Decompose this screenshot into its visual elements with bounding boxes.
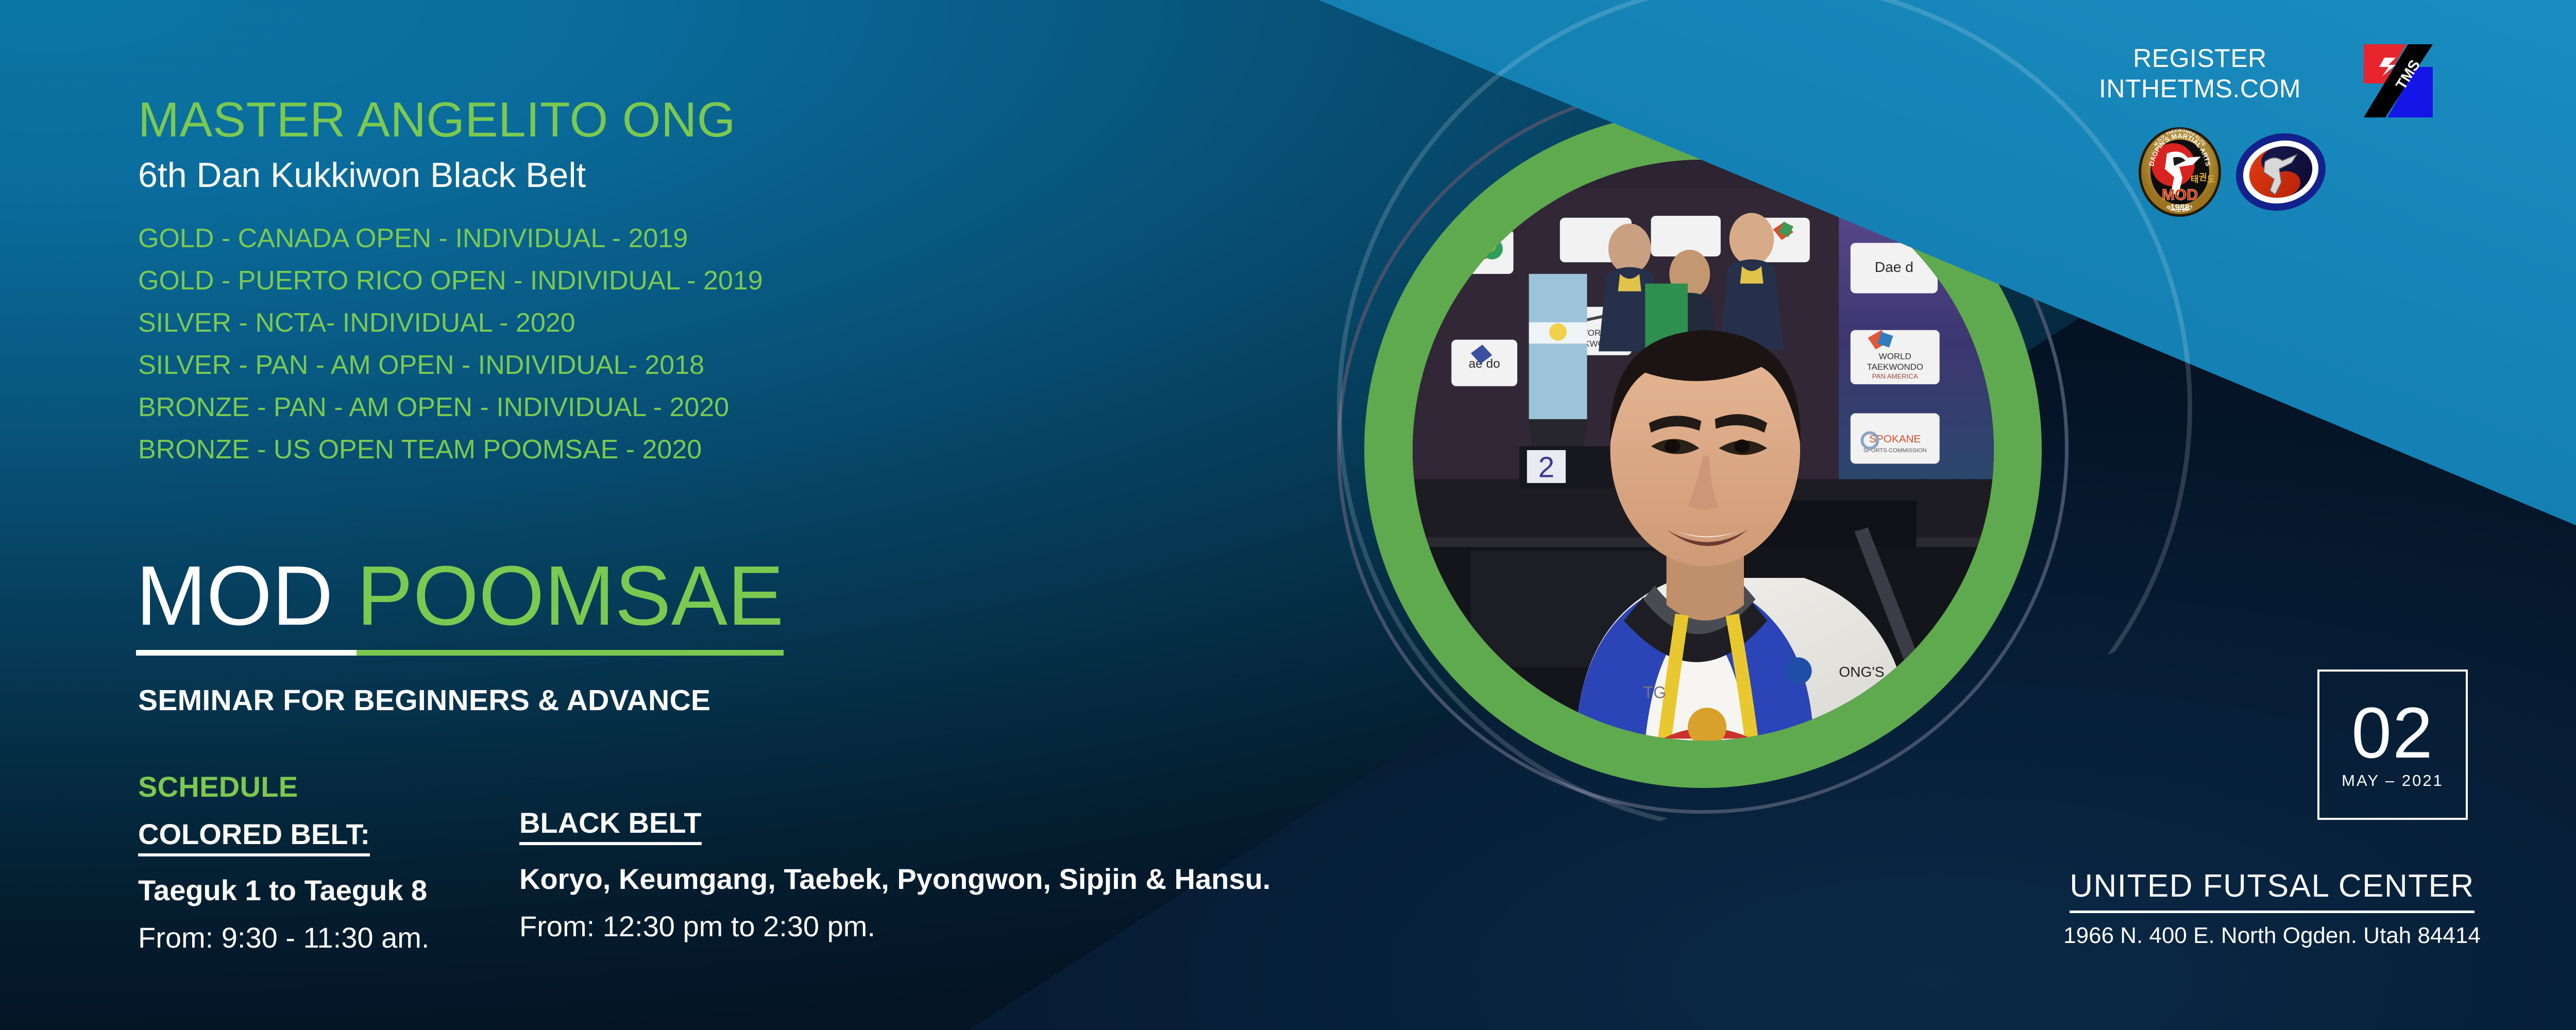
award-item: SILVER - PAN - AM OPEN - INDIVIDUAL- 201… — [138, 352, 911, 379]
svg-text:TAEKWONDO: TAEKWONDO — [1867, 362, 1923, 372]
event-title-mod: MOD — [136, 548, 357, 656]
venue-name: UNITED FUTSAL CENTER — [2070, 870, 2475, 913]
svg-text:WORLD: WORLD — [1879, 351, 1911, 361]
svg-text:2: 2 — [1538, 451, 1554, 484]
ong-taekwondo-logo-icon — [2234, 133, 2328, 211]
award-item: GOLD - PUERTO RICO OPEN - INDIVIDUAL - 2… — [138, 267, 911, 294]
black-belt-heading: BLACK BELT — [519, 809, 702, 845]
event-date-month-year: MAY – 2021 — [2342, 772, 2444, 788]
schedule-colored-belt: COLORED BELT: Taeguk 1 to Taeguk 8 From:… — [138, 820, 429, 952]
colored-belt-forms: Taeguk 1 to Taeguk 8 — [138, 876, 429, 905]
mod-martial-arts-logo-icon: 태권도 M.O.D. TAEKWONDO ELITE DAGPIN'S MART… — [2137, 127, 2223, 217]
award-item: SILVER - NCTA- INDIVIDUAL - 2020 — [138, 310, 911, 336]
left-content-column: MASTER ANGELITO ONG 6th Dan Kukkiwon Bla… — [0, 0, 1236, 1030]
event-date-day: 02 — [2351, 701, 2434, 764]
register-callout[interactable]: REGISTER INTHETMS.COM — [2092, 43, 2308, 104]
colored-belt-heading: COLORED BELT: — [138, 820, 370, 856]
black-belt-time: From: 12:30 pm to 2:30 pm. — [519, 912, 1270, 941]
svg-text:도: 도 — [2207, 175, 2215, 184]
instructor-photo: WORLDTAEKWONDO WORLDTAEKWONDO PAN AMERIC… — [1413, 160, 1994, 741]
award-item: GOLD - CANADA OPEN - INDIVIDUAL - 2019 — [138, 225, 911, 252]
instructor-name: MASTER ANGELITO ONG — [138, 95, 736, 145]
register-line-1: REGISTER — [2092, 43, 2308, 74]
schedule-heading: SCHEDULE — [138, 772, 298, 801]
svg-text:ONG'S: ONG'S — [1839, 663, 1884, 680]
event-title-poomsae: POOMSAE — [357, 548, 784, 656]
seminar-poster: WORLDTAEKWONDO WORLDTAEKWONDO PAN AMERIC… — [0, 0, 2576, 1030]
award-item: BRONZE - PAN - AM OPEN - INDIVIDUAL - 20… — [138, 394, 911, 421]
svg-text:PAN AMERICA: PAN AMERICA — [1872, 372, 1918, 380]
register-website[interactable]: INTHETMS.COM — [2092, 74, 2308, 104]
event-subtitle: SEMINAR FOR BEGINNERS & ADVANCE — [138, 686, 710, 715]
instructor-rank: 6th Dan Kukkiwon Black Belt — [138, 158, 586, 193]
event-date-box: 02 MAY – 2021 — [2317, 669, 2468, 820]
colored-belt-time: From: 9:30 - 11:30 am. — [138, 923, 429, 952]
svg-text:태: 태 — [2191, 175, 2199, 184]
awards-list: GOLD - CANADA OPEN - INDIVIDUAL - 2019 G… — [138, 225, 911, 478]
mod-logo-name: MOD — [2162, 186, 2198, 203]
schedule-black-belt: BLACK BELT Koryo, Keumgang, Taebek, Pyon… — [519, 809, 1270, 941]
svg-text:Dae d: Dae d — [1875, 259, 1913, 275]
svg-text:TG: TG — [1643, 683, 1666, 701]
venue-address: 1966 N. 400 E. North Ogden. Utah 84414 — [1989, 924, 2555, 947]
venue-block: UNITED FUTSAL CENTER 1966 N. 400 E. Nort… — [1989, 870, 2555, 947]
tms-logo-icon: TMS — [2354, 40, 2442, 122]
organization-logos: 태권도 M.O.D. TAEKWONDO ELITE DAGPIN'S MART… — [2137, 127, 2343, 217]
event-title: MOD POOMSAE — [136, 554, 784, 638]
award-item: BRONZE - US OPEN TEAM POOMSAE - 2020 — [138, 436, 911, 463]
black-belt-forms: Koryo, Keumgang, Taebek, Pyongwon, Sipji… — [519, 865, 1270, 894]
svg-text:권: 권 — [2199, 173, 2207, 182]
